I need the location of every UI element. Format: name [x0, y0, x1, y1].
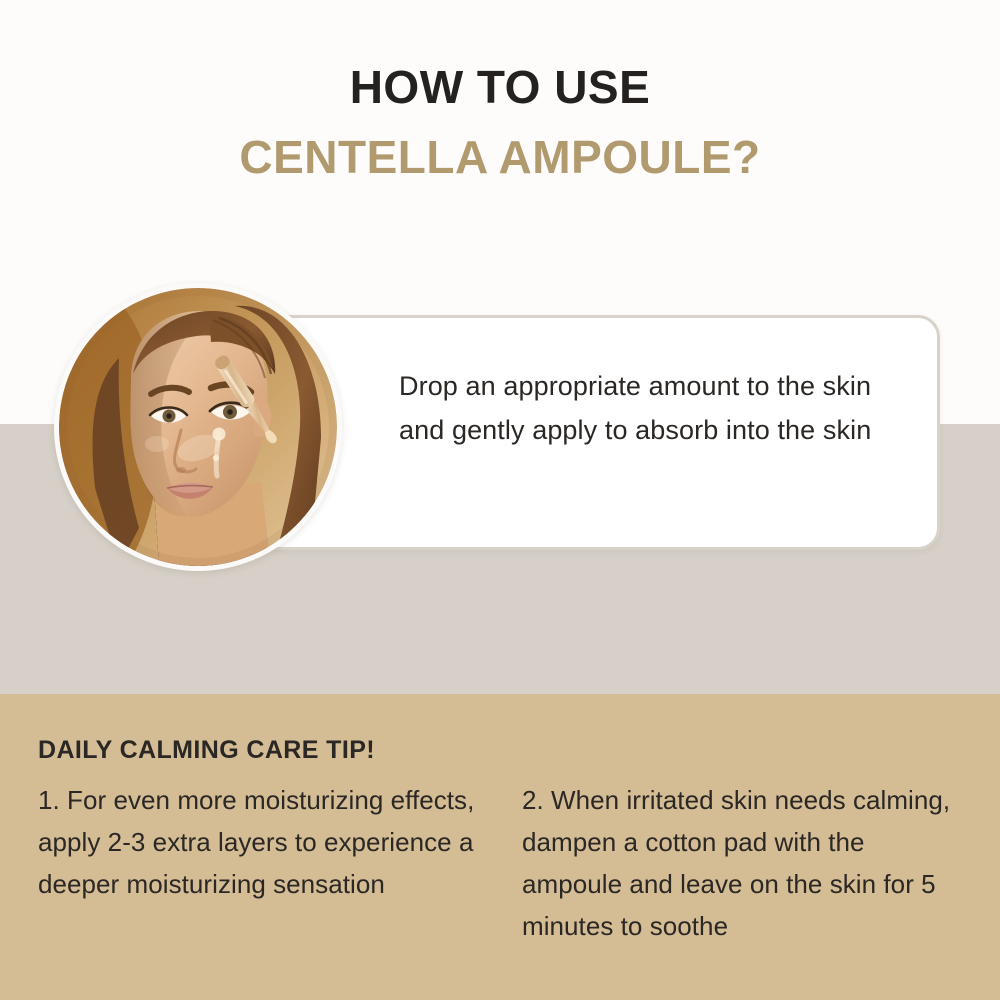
- page-title-secondary: CENTELLA AMPOULE?: [0, 132, 1000, 184]
- daily-tip-item-2: 2. When irritated skin needs calming, da…: [522, 779, 968, 947]
- instruction-card-text: Drop an appropriate amount to the skin a…: [399, 365, 899, 452]
- portrait-photo: [54, 283, 342, 571]
- page-title-primary: HOW TO USE: [0, 62, 1000, 114]
- infographic-page: HOW TO USE CENTELLA AMPOULE? Drop an app…: [0, 0, 1000, 1000]
- daily-tip-heading: DAILY CALMING CARE TIP!: [38, 736, 968, 765]
- daily-tip-columns: 1. For even more moisturizing effects, a…: [38, 779, 968, 947]
- daily-tip-item-1: 1. For even more moisturizing effects, a…: [38, 779, 484, 947]
- daily-tip-section: DAILY CALMING CARE TIP! 1. For even more…: [38, 736, 968, 947]
- page-title-block: HOW TO USE CENTELLA AMPOULE?: [0, 62, 1000, 183]
- portrait-illustration: [59, 288, 337, 566]
